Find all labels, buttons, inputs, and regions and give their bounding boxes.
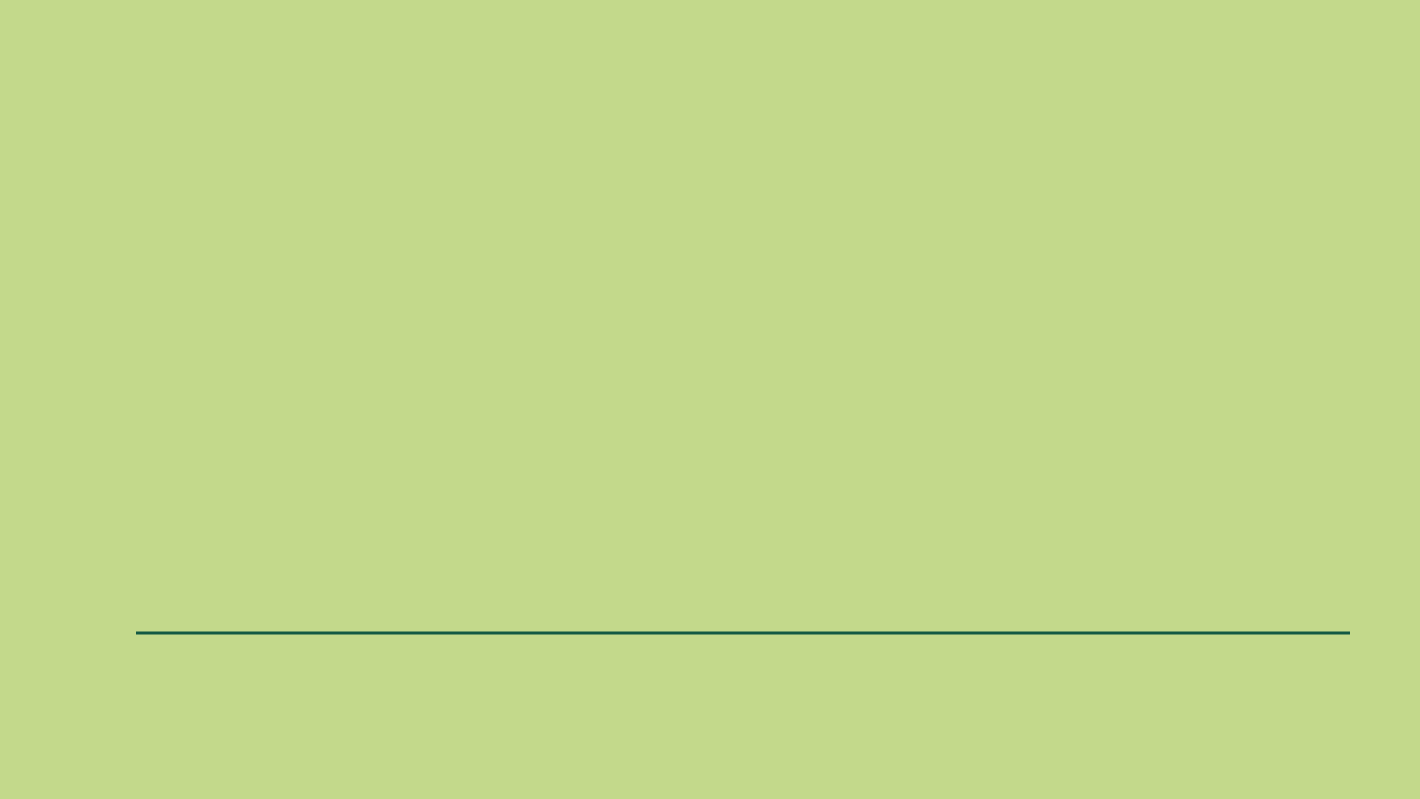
plot-area (0, 0, 1420, 799)
chart-container (0, 0, 1420, 799)
